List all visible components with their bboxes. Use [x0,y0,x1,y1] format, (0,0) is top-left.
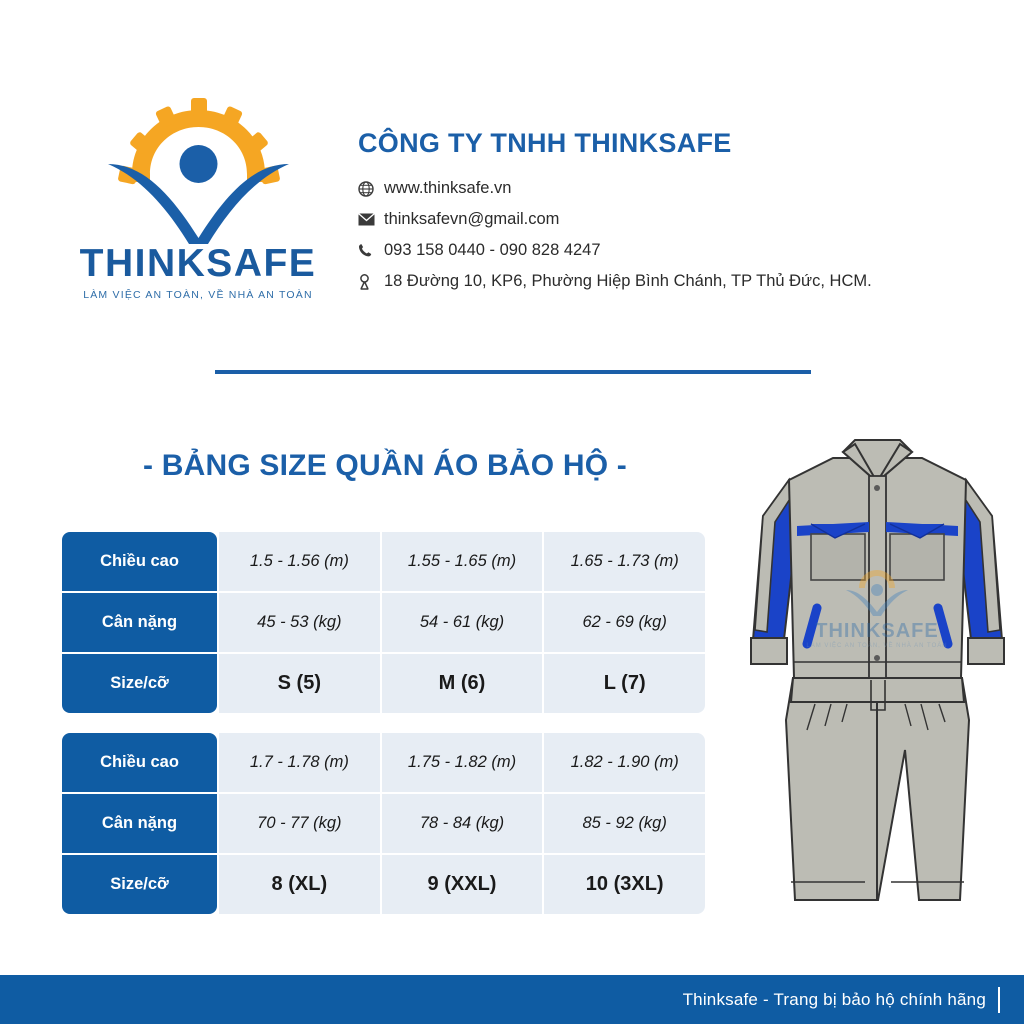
table-cell: 1.55 - 1.65 (m) [380,532,543,591]
page-title: - BẢNG SIZE QUẦN ÁO BẢO HỘ - [60,449,710,483]
phone-text[interactable]: 093 158 0440 - 090 828 4247 [384,241,601,260]
table-cell: 10 (3XL) [542,855,705,914]
contact-row-website: www.thinksafe.vn [358,173,978,204]
header-divider [215,370,811,374]
contact-row-address: 18 Đường 10, KP6, Phường Hiệp Bình Chánh… [358,266,978,297]
table-cell: S (5) [217,654,380,713]
svg-text:THINKSAFE: THINKSAFE [815,620,938,642]
size-table-small: Chiều cao 1.5 - 1.56 (m) 1.55 - 1.65 (m)… [62,532,705,713]
phone-icon [358,243,384,258]
row-header-height: Chiều cao [62,532,217,591]
footer-bar: Thinksafe - Trang bị bảo hộ chính hãng [0,975,1024,1024]
row-header-size: Size/cỡ [62,654,217,713]
row-header-weight: Cân nặng [62,794,217,853]
location-pin-icon [358,274,384,290]
workwear-uniform-illustration: THINKSAFE LÀM VIỆC AN TOÀN, VỀ NHÀ AN TO… [745,430,1010,940]
contact-block: CÔNG TY TNHH THINKSAFE www.thinksafe.vn [358,128,978,297]
contact-row-phone: 093 158 0440 - 090 828 4247 [358,235,978,266]
table-row: Size/cỡ 8 (XL) 9 (XXL) 10 (3XL) [62,855,705,914]
table-cell: 1.65 - 1.73 (m) [542,532,705,591]
header: THINKSAFE LÀM VIỆC AN TOÀN, VỀ NHÀ AN TO… [0,0,1024,330]
row-header-size: Size/cỡ [62,855,217,914]
table-cell: 1.5 - 1.56 (m) [217,532,380,591]
table-cell: 78 - 84 (kg) [380,794,543,853]
address-text: 18 Đường 10, KP6, Phường Hiệp Bình Chánh… [384,272,872,291]
size-table-large: Chiều cao 1.7 - 1.78 (m) 1.75 - 1.82 (m)… [62,733,705,914]
table-cell: 70 - 77 (kg) [217,794,380,853]
row-header-weight: Cân nặng [62,593,217,652]
company-name: CÔNG TY TNHH THINKSAFE [358,128,978,159]
row-header-height: Chiều cao [62,733,217,792]
table-cell: 54 - 61 (kg) [380,593,543,652]
contact-row-email: thinksafevn@gmail.com [358,204,978,235]
table-row: Chiều cao 1.7 - 1.78 (m) 1.75 - 1.82 (m)… [62,733,705,792]
table-cell: 8 (XL) [217,855,380,914]
thinksafe-logo-icon [106,92,291,252]
footer-text: Thinksafe - Trang bị bảo hộ chính hãng [683,990,986,1010]
table-row: Cân nặng 45 - 53 (kg) 54 - 61 (kg) 62 - … [62,593,705,652]
table-cell: 9 (XXL) [380,855,543,914]
email-text[interactable]: thinksafevn@gmail.com [384,210,559,229]
envelope-icon [358,213,384,226]
table-row: Chiều cao 1.5 - 1.56 (m) 1.55 - 1.65 (m)… [62,532,705,591]
table-cell: 85 - 92 (kg) [542,794,705,853]
table-cell: 45 - 53 (kg) [217,593,380,652]
logo-wordmark: THINKSAFE [58,242,338,286]
table-row: Cân nặng 70 - 77 (kg) 78 - 84 (kg) 85 - … [62,794,705,853]
brand-logo: THINKSAFE LÀM VIỆC AN TOÀN, VỀ NHÀ AN TO… [58,92,338,302]
footer-divider [998,987,1000,1013]
table-cell: L (7) [542,654,705,713]
jacket-illustration: THINKSAFE LÀM VIỆC AN TOÀN, VỀ NHÀ AN TO… [751,440,1004,678]
table-cell: 1.7 - 1.78 (m) [217,733,380,792]
table-cell: 1.82 - 1.90 (m) [542,733,705,792]
trousers-illustration [786,678,969,900]
table-cell: M (6) [380,654,543,713]
table-cell: 1.75 - 1.82 (m) [380,733,543,792]
table-row: Size/cỡ S (5) M (6) L (7) [62,654,705,713]
logo-tagline: LÀM VIỆC AN TOÀN, VỀ NHÀ AN TOÀN [58,289,338,301]
website-text[interactable]: www.thinksafe.vn [384,179,511,198]
globe-icon [358,181,384,197]
table-cell: 62 - 69 (kg) [542,593,705,652]
svg-text:LÀM VIỆC AN TOÀN, VỀ NHÀ AN TO: LÀM VIỆC AN TOÀN, VỀ NHÀ AN TOÀN [806,641,947,649]
